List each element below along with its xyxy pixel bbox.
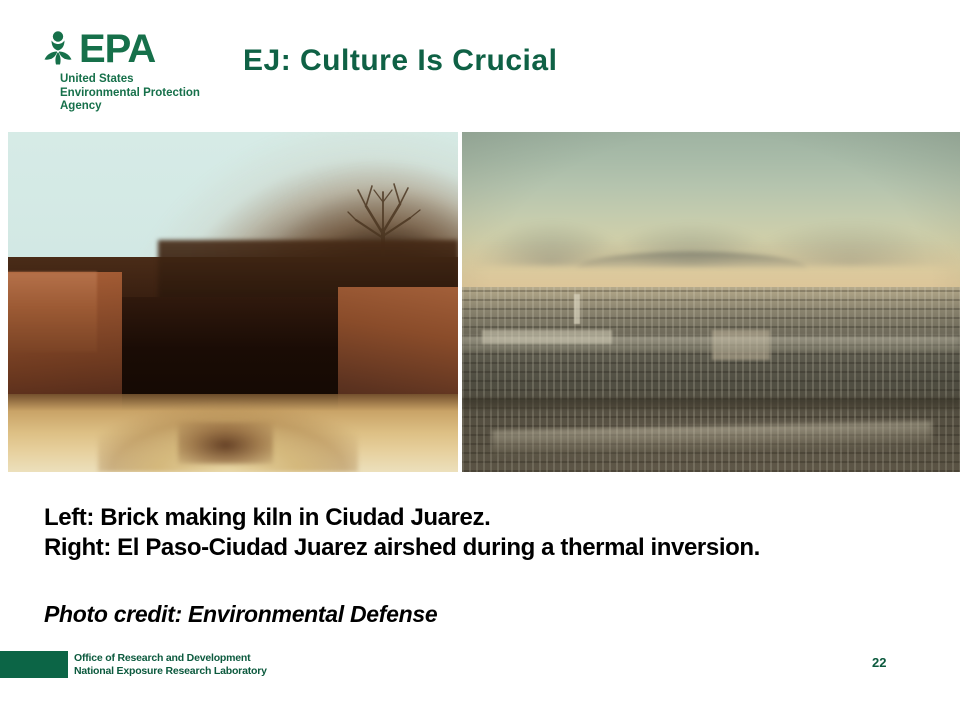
- page-title: EJ: Culture Is Crucial: [243, 44, 557, 78]
- footer-line-1: Office of Research and Development: [74, 652, 267, 665]
- photo-caption: Left: Brick making kiln in Ciudad Juarez…: [44, 503, 934, 563]
- slide-header: EPA United States Environmental Protecti…: [0, 0, 960, 126]
- footer-org-text: Office of Research and Development Natio…: [74, 652, 267, 677]
- photo-credit: Photo credit: Environmental Defense: [44, 600, 437, 628]
- epa-agency-line-1: United States: [60, 73, 223, 87]
- epa-wordmark: EPA: [79, 29, 155, 69]
- caption-line-right: Right: El Paso-Ciudad Juarez airshed dur…: [44, 533, 934, 563]
- epa-agency-name: United States Environmental Protection A…: [60, 73, 223, 114]
- photo-right-airshed: [462, 132, 960, 472]
- caption-line-left: Left: Brick making kiln in Ciudad Juarez…: [44, 503, 934, 533]
- left-photo-debris: [178, 422, 273, 464]
- right-photo-vignette: [462, 132, 960, 472]
- epa-flower-seal-icon: [38, 29, 78, 69]
- page-number: 22: [872, 655, 886, 670]
- footer-line-2: National Exposure Research Laboratory: [74, 665, 267, 678]
- photo-band: [8, 132, 960, 472]
- footer-green-bar: [0, 651, 68, 678]
- slide-canvas: EPA United States Environmental Protecti…: [0, 0, 960, 720]
- left-photo-brick-stack-left: [8, 272, 97, 352]
- epa-agency-line-2: Environmental Protection: [60, 87, 223, 101]
- photo-left-brick-kiln: [8, 132, 458, 472]
- epa-logo-mark-row: EPA: [38, 28, 223, 70]
- epa-logo: EPA United States Environmental Protecti…: [38, 28, 223, 116]
- epa-agency-line-3: Agency: [60, 100, 223, 114]
